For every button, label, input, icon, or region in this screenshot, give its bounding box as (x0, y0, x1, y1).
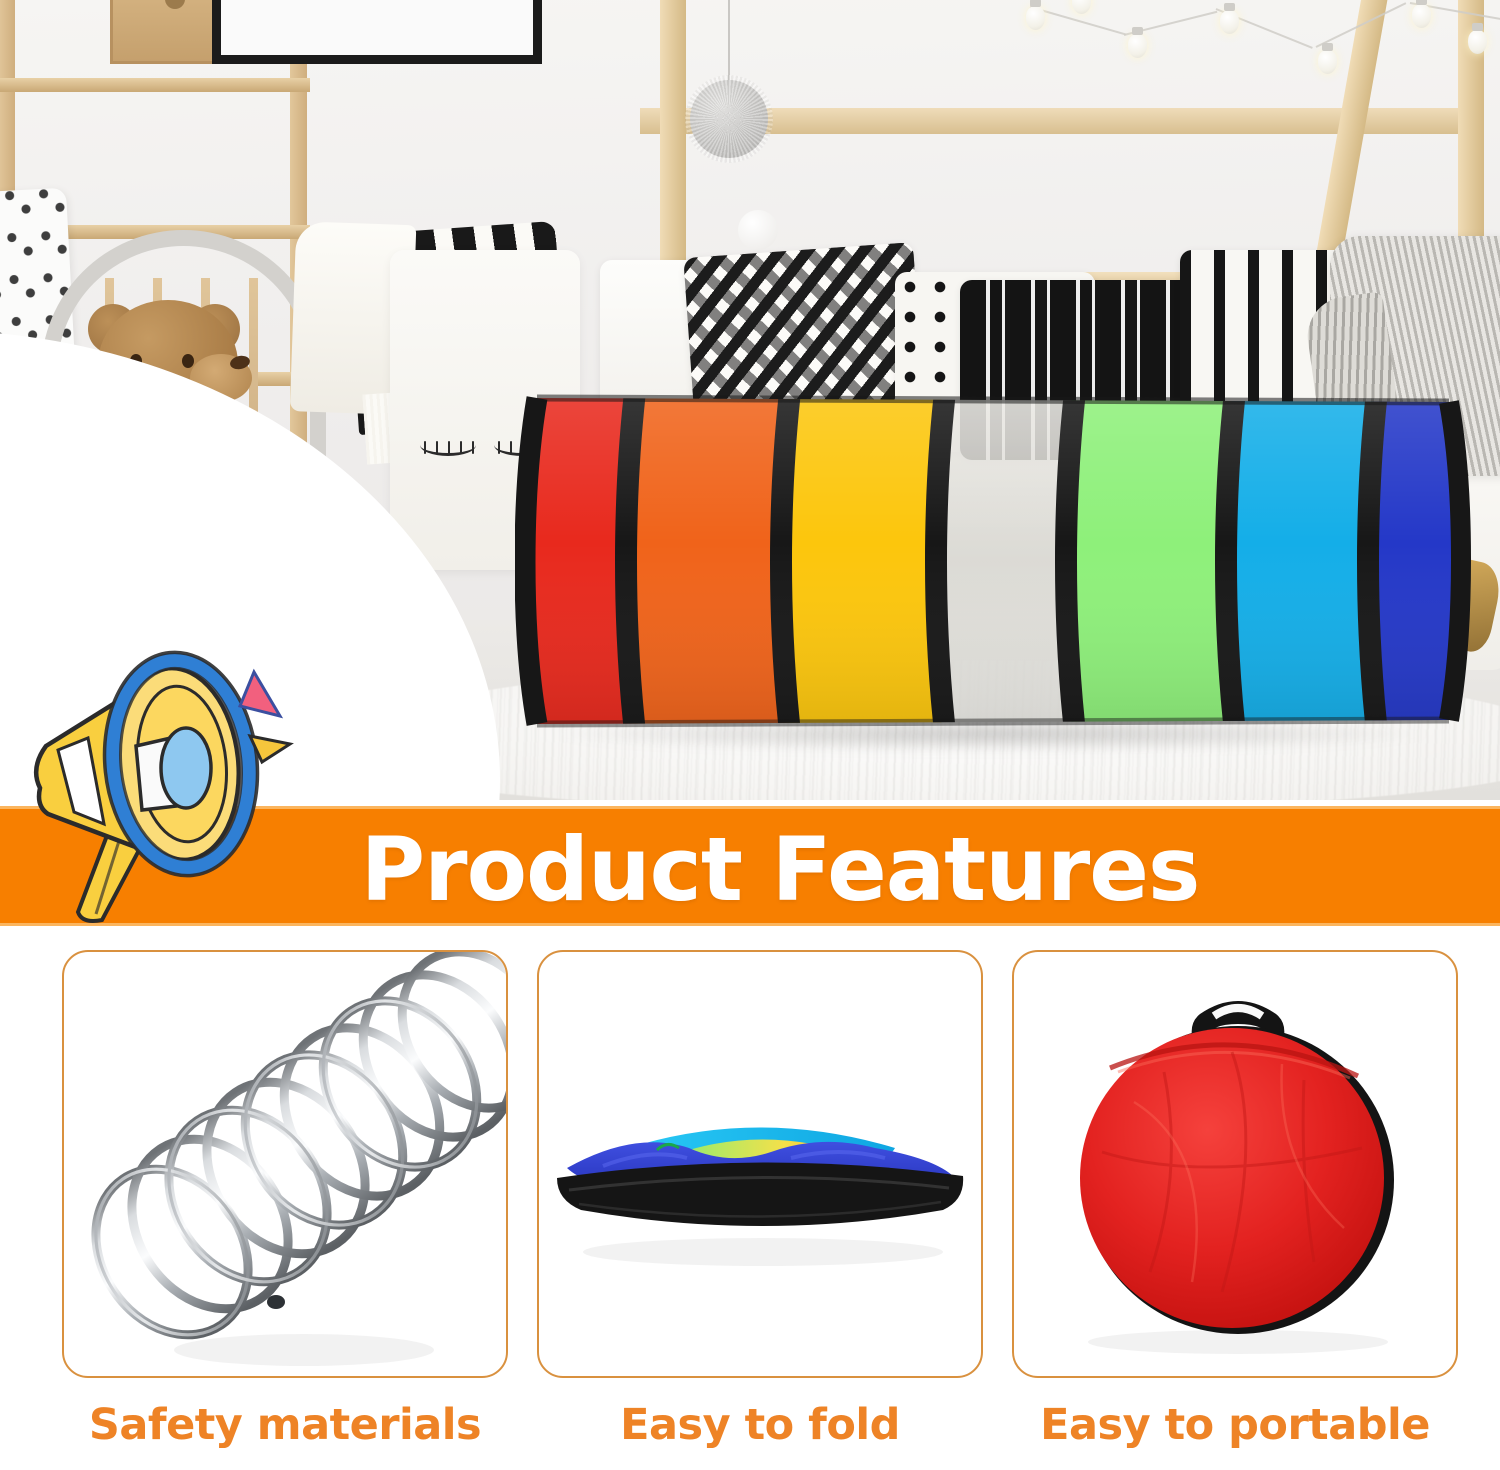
picture-frame (212, 0, 542, 64)
feature-card-safety-materials[interactable]: Safety materials (62, 950, 508, 1450)
steel-spring-coil-image (64, 952, 508, 1378)
feature-card-easy-to-fold[interactable]: Easy to fold (537, 950, 983, 1450)
pompom-string (728, 0, 730, 82)
feature-card-frame (62, 950, 508, 1378)
feature-caption: Safety materials (62, 1400, 508, 1450)
feature-caption: Easy to portable (1012, 1400, 1458, 1450)
white-ball (738, 210, 778, 250)
string-lights (1020, 0, 1500, 112)
feature-card-frame (537, 950, 983, 1378)
folded-flat-tunnel-image (539, 952, 983, 1378)
feature-cards: Safety materials (0, 950, 1500, 1470)
gray-pompom (690, 80, 768, 158)
feature-caption: Easy to fold (537, 1400, 983, 1450)
product-feature-page: Product Features (0, 0, 1500, 1470)
red-round-carry-bag-image (1014, 952, 1458, 1378)
feature-card-easy-to-portable[interactable]: Easy to portable (1012, 950, 1458, 1450)
feature-card-frame (1012, 950, 1458, 1378)
rainbow-play-tunnel (515, 372, 1475, 752)
megaphone-icon (18, 628, 318, 928)
tunnel-svg (515, 372, 1475, 752)
